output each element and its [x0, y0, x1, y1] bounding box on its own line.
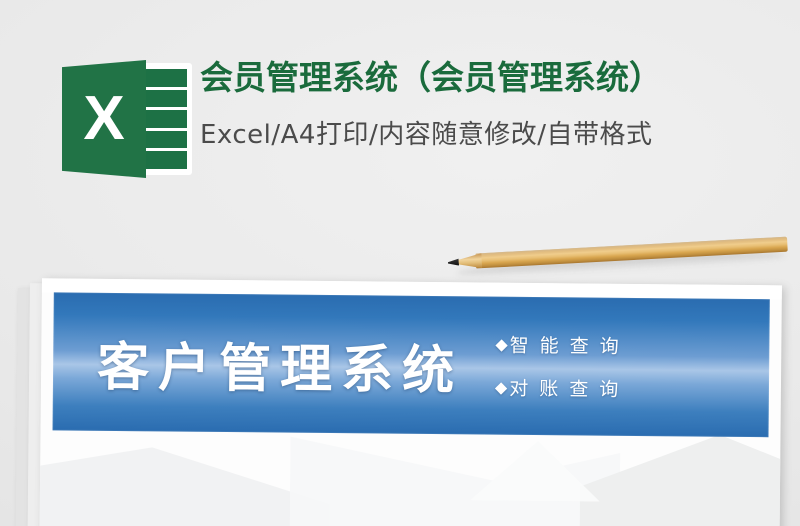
- diamond-bullet-icon: ◆: [495, 336, 507, 352]
- excel-grid-cell: [144, 110, 187, 128]
- header-row: X 会员管理系统（会员管理系统） Excel/A4打印/内容随意修改/自带格式: [0, 54, 800, 184]
- excel-grid-cell: [144, 69, 187, 87]
- excel-grid-cell: [144, 151, 187, 169]
- pencil-graphite-tip: [448, 259, 459, 267]
- page-title: 会员管理系统（会员管理系统）: [200, 54, 800, 102]
- list-item-label: 对账查询: [509, 374, 629, 402]
- excel-file-icon: X: [62, 60, 194, 178]
- document-preview-stack: 客户管理系统 ◆ 智能查询 ◆ 对账查询: [13, 276, 800, 526]
- list-item: ◆ 对账查询: [495, 374, 630, 402]
- banner-title: 客户管理系统: [97, 324, 464, 403]
- list-item-label: 智能查询: [510, 331, 630, 359]
- page-facet: [39, 446, 330, 526]
- banner-feature-list: ◆ 智能查询 ◆ 对账查询: [495, 331, 630, 402]
- excel-grid-cell: [144, 90, 187, 108]
- document-page-front: 客户管理系统 ◆ 智能查询 ◆ 对账查询: [39, 278, 782, 526]
- excel-grid-cell: [144, 131, 187, 149]
- title-block: 会员管理系统（会员管理系统） Excel/A4打印/内容随意修改/自带格式: [200, 54, 800, 158]
- pencil-sharpened-wood: [455, 253, 482, 269]
- list-item: ◆ 智能查询: [495, 331, 630, 359]
- document-banner: 客户管理系统 ◆ 智能查询 ◆ 对账查询: [53, 292, 770, 437]
- excel-letter-x: X: [62, 60, 146, 178]
- diamond-bullet-icon: ◆: [495, 379, 507, 395]
- poster-canvas: X 会员管理系统（会员管理系统） Excel/A4打印/内容随意修改/自带格式 …: [0, 0, 800, 526]
- pencil-icon: [447, 229, 788, 283]
- page-subtitle: Excel/A4打印/内容随意修改/自带格式: [200, 112, 800, 158]
- page-facet: [579, 433, 782, 526]
